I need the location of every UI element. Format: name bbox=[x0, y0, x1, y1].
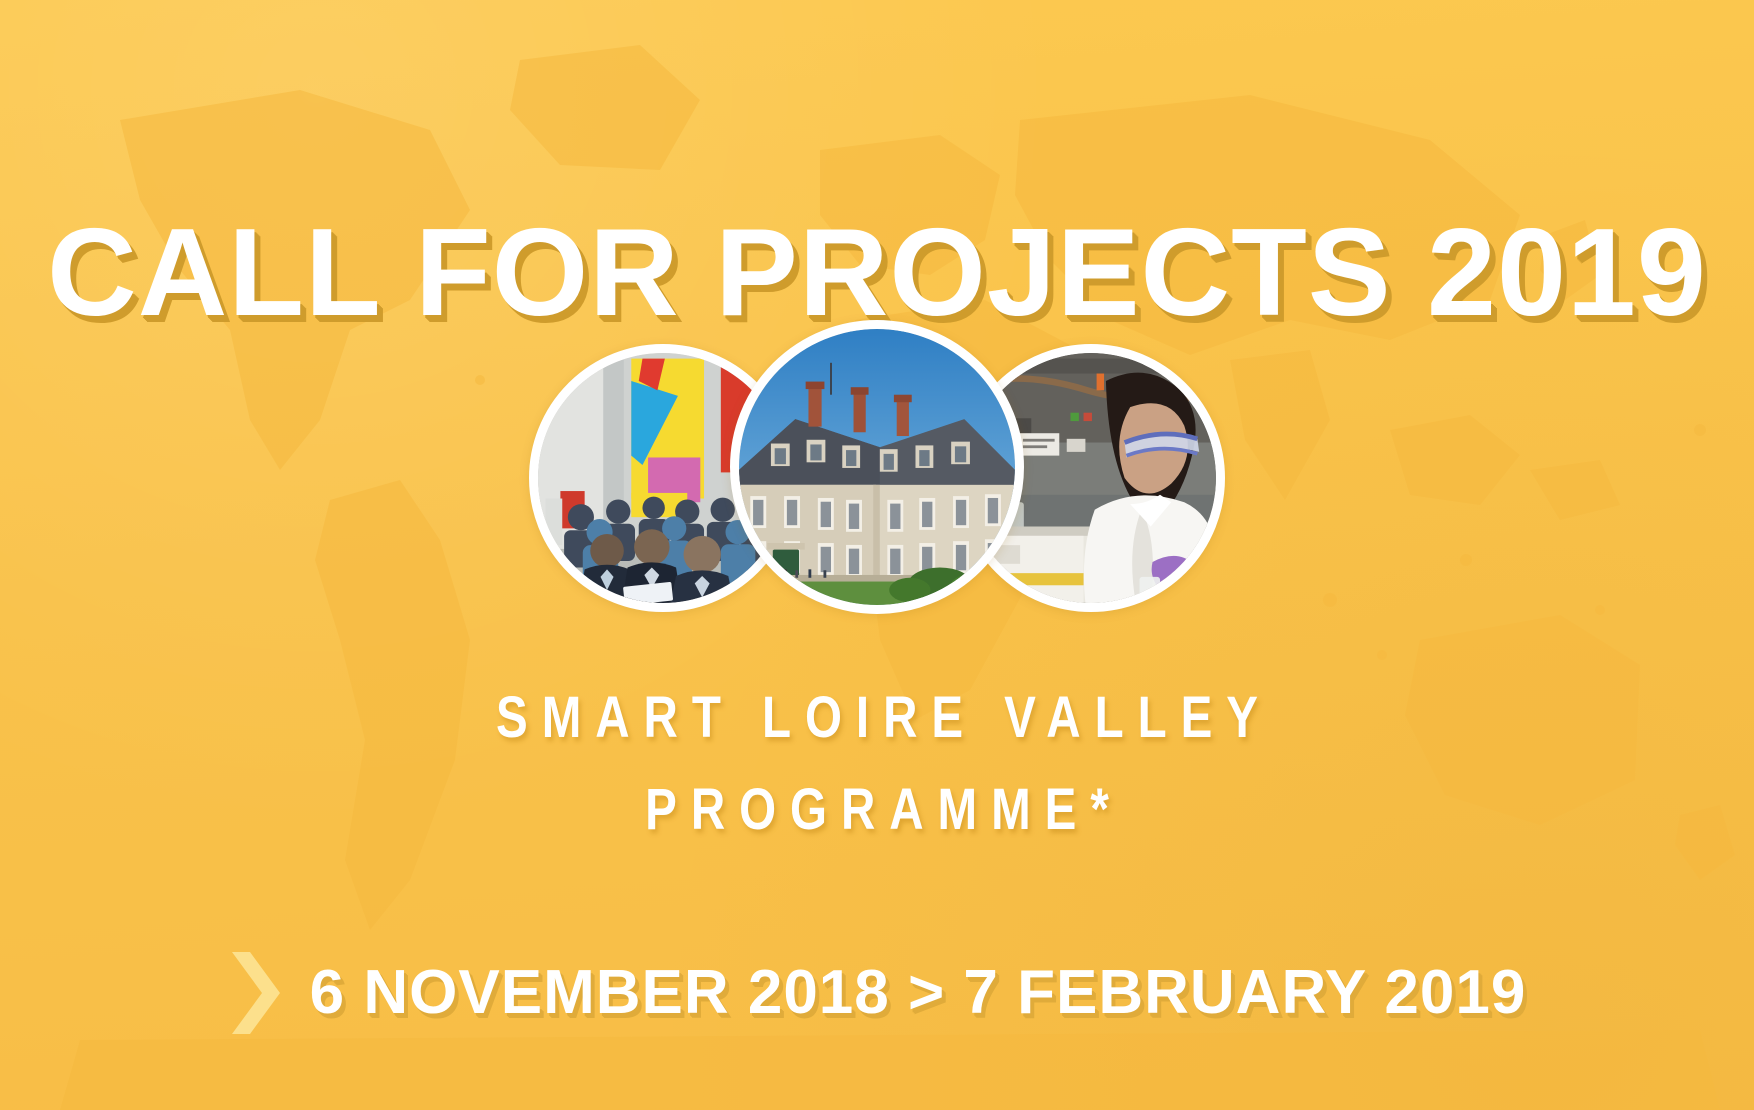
chevron-right-icon bbox=[228, 950, 284, 1036]
programme-title: SMART LOIRE VALLEY PROGRAMME* bbox=[158, 672, 1596, 856]
programme-line-1: SMART LOIRE VALLEY bbox=[158, 672, 1596, 764]
date-range-text: 6 NOVEMBER 2018 > 7 FEBRUARY 2019 bbox=[310, 962, 1527, 1024]
chateau-building-photo bbox=[730, 320, 1024, 614]
poster-canvas: CALL FOR PROJECTS 2019 bbox=[0, 0, 1754, 1110]
programme-line-2: PROGRAMME* bbox=[158, 764, 1596, 856]
photo-circle-cluster bbox=[527, 318, 1227, 618]
page-title: CALL FOR PROJECTS 2019 bbox=[0, 211, 1754, 335]
date-range-row: 6 NOVEMBER 2018 > 7 FEBRUARY 2019 bbox=[0, 950, 1754, 1036]
